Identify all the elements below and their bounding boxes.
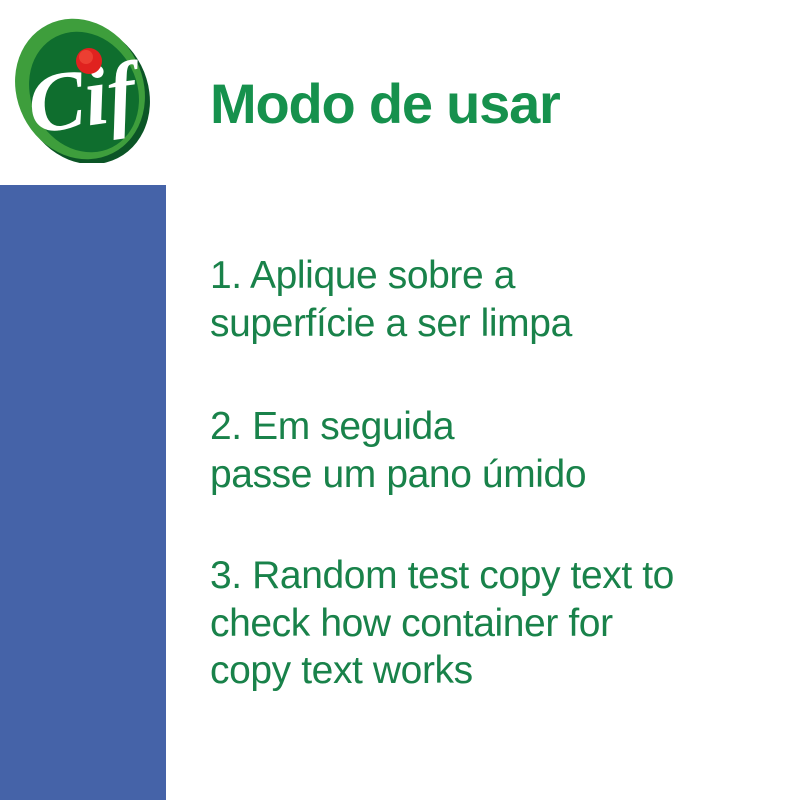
instruction-step-1: 1. Aplique sobre a superfície a ser limp… bbox=[210, 252, 572, 347]
product-instructions-panel: Cif Modo de usar 1. Aplique sobre a supe… bbox=[0, 0, 800, 800]
instruction-step-3-line-1: 3. Random test copy text to bbox=[210, 552, 674, 600]
instruction-step-3: 3. Random test copy text to check how co… bbox=[210, 552, 674, 695]
instruction-step-1-line-1: 1. Aplique sobre a bbox=[210, 252, 572, 300]
instruction-step-1-line-2: superfície a ser limpa bbox=[210, 300, 572, 348]
logo-red-dot bbox=[76, 48, 102, 74]
instruction-step-2-line-2: passe um pano úmido bbox=[210, 451, 586, 499]
instruction-step-3-line-3: copy text works bbox=[210, 647, 674, 695]
page-title: Modo de usar bbox=[210, 76, 560, 132]
blue-accent-bar bbox=[0, 185, 166, 800]
instruction-step-2: 2. Em seguida passe um pano úmido bbox=[210, 403, 586, 498]
instructions-content: Modo de usar 1. Aplique sobre a superfíc… bbox=[210, 0, 790, 800]
instruction-step-2-line-1: 2. Em seguida bbox=[210, 403, 586, 451]
instruction-step-3-line-2: check how container for bbox=[210, 600, 674, 648]
cif-brand-logo: Cif bbox=[8, 18, 158, 163]
